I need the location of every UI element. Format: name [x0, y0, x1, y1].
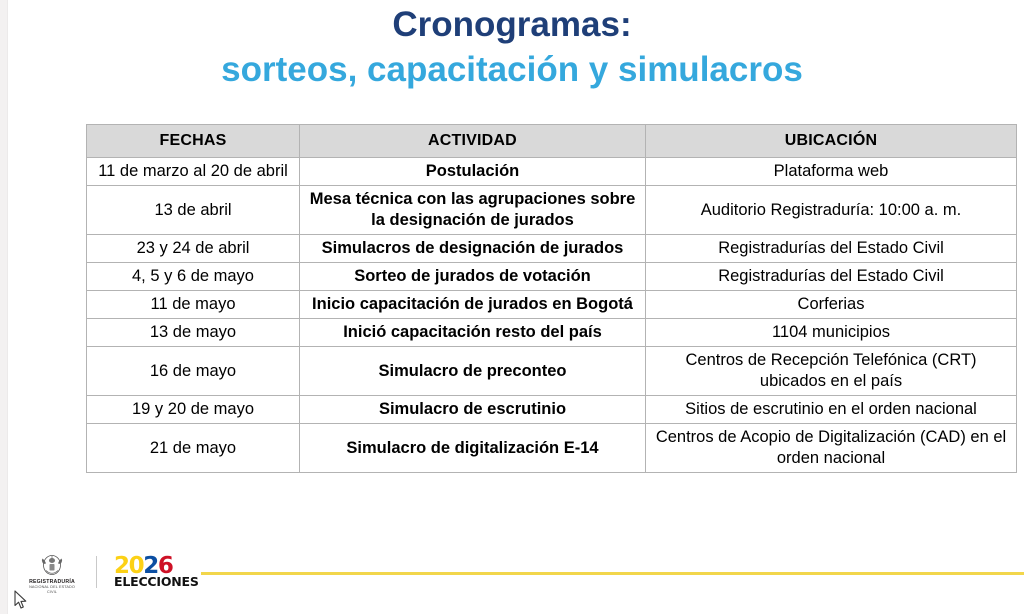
elecciones-year: 2026: [114, 556, 196, 576]
presentation-slide: Cronogramas: sorteos, capacitación y sim…: [0, 0, 1024, 614]
cell-ubicacion: Centros de Acopio de Digitalización (CAD…: [646, 424, 1017, 473]
cell-fecha: 19 y 20 de mayo: [87, 396, 300, 424]
table-row: 16 de mayo Simulacro de preconteo Centro…: [87, 347, 1017, 396]
table-row: 4, 5 y 6 de mayo Sorteo de jurados de vo…: [87, 263, 1017, 291]
cell-ubicacion: Registradurías del Estado Civil: [646, 263, 1017, 291]
cell-ubicacion: Centros de Recepción Telefónica (CRT) ub…: [646, 347, 1017, 396]
cell-actividad: Simulacro de escrutinio: [300, 396, 646, 424]
cell-ubicacion: Registradurías del Estado Civil: [646, 235, 1017, 263]
cell-fecha: 16 de mayo: [87, 347, 300, 396]
footer-rule: [201, 572, 1024, 575]
table-header-row: FECHAS ACTIVIDAD UBICACIÓN: [87, 125, 1017, 158]
table-row: 11 de marzo al 20 de abril Postulación P…: [87, 158, 1017, 186]
cell-ubicacion: Plataforma web: [646, 158, 1017, 186]
cell-actividad: Mesa técnica con las agrupaciones sobre …: [300, 186, 646, 235]
cell-actividad: Simulacros de designación de jurados: [300, 235, 646, 263]
cell-actividad: Inicio capacitación de jurados en Bogotá: [300, 291, 646, 319]
cell-fecha: 13 de abril: [87, 186, 300, 235]
table-header: FECHAS ACTIVIDAD UBICACIÓN: [87, 125, 1017, 158]
column-header-ubicacion: UBICACIÓN: [646, 125, 1017, 158]
schedule-table: FECHAS ACTIVIDAD UBICACIÓN 11 de marzo a…: [86, 124, 1017, 473]
cell-fecha: 11 de mayo: [87, 291, 300, 319]
column-header-fechas: FECHAS: [87, 125, 300, 158]
cell-actividad: Simulacro de preconteo: [300, 347, 646, 396]
registraduria-subtitle: NACIONAL DEL ESTADO CIVIL: [24, 585, 80, 595]
table-row: 11 de mayo Inicio capacitación de jurado…: [87, 291, 1017, 319]
cell-actividad: Sorteo de jurados de votación: [300, 263, 646, 291]
cell-ubicacion: Corferias: [646, 291, 1017, 319]
table-row: 13 de mayo Inició capacitación resto del…: [87, 319, 1017, 347]
title-line-primary: Cronogramas:: [0, 4, 1024, 46]
cell-ubicacion: 1104 municipios: [646, 319, 1017, 347]
cell-fecha: 21 de mayo: [87, 424, 300, 473]
cell-ubicacion: Sitios de escrutinio en el orden naciona…: [646, 396, 1017, 424]
slide-footer: REGISTRADURÍA NACIONAL DEL ESTADO CIVIL …: [0, 544, 1024, 614]
elecciones-2026-logo: 2026 ELECCIONES: [114, 556, 196, 590]
cell-fecha: 11 de marzo al 20 de abril: [87, 158, 300, 186]
table-row: 19 y 20 de mayo Simulacro de escrutinio …: [87, 396, 1017, 424]
page-title: Cronogramas: sorteos, capacitación y sim…: [0, 4, 1024, 92]
footer-divider: [96, 556, 97, 588]
elecciones-word: ELECCIONES: [114, 574, 196, 589]
title-line-secondary: sorteos, capacitación y simulacros: [0, 48, 1024, 92]
schedule-table-container: FECHAS ACTIVIDAD UBICACIÓN 11 de marzo a…: [86, 124, 1016, 473]
table-row: 13 de abril Mesa técnica con las agrupac…: [87, 186, 1017, 235]
coat-of-arms-icon: [39, 554, 65, 578]
cell-actividad: Inició capacitación resto del país: [300, 319, 646, 347]
cell-actividad: Simulacro de digitalización E-14: [300, 424, 646, 473]
table-body: 11 de marzo al 20 de abril Postulación P…: [87, 158, 1017, 473]
cell-fecha: 23 y 24 de abril: [87, 235, 300, 263]
table-row: 23 y 24 de abril Simulacros de designaci…: [87, 235, 1017, 263]
cell-fecha: 13 de mayo: [87, 319, 300, 347]
column-header-actividad: ACTIVIDAD: [300, 125, 646, 158]
cell-fecha: 4, 5 y 6 de mayo: [87, 263, 300, 291]
cell-ubicacion: Auditorio Registraduría: 10:00 a. m.: [646, 186, 1017, 235]
registraduria-logo: REGISTRADURÍA NACIONAL DEL ESTADO CIVIL: [24, 554, 80, 598]
cell-actividad: Postulación: [300, 158, 646, 186]
table-row: 21 de mayo Simulacro de digitalización E…: [87, 424, 1017, 473]
